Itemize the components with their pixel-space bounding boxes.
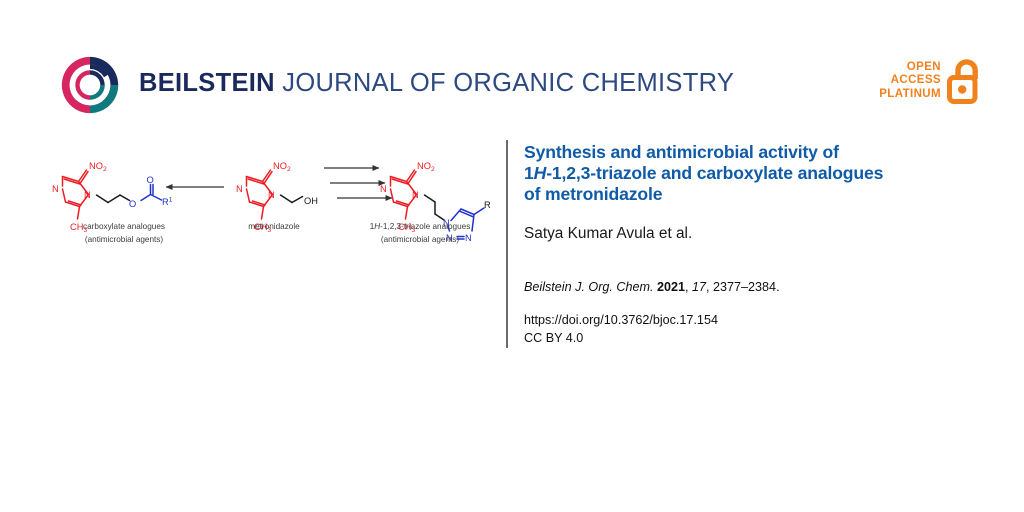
article-info-panel: Synthesis and antimicrobial activity of1… (524, 142, 994, 347)
article-citation: Beilstein J. Org. Chem. 2021, 17, 2377–2… (524, 279, 994, 296)
article-doi-link[interactable]: https://doi.org/10.3762/bjoc.17.154 (524, 311, 994, 329)
article-license[interactable]: CC BY 4.0 (524, 329, 994, 347)
caption-carboxylate-main: carboxylate analogues (83, 222, 165, 231)
label-no2: NO2 (417, 161, 435, 173)
open-access-badge[interactable]: OPEN ACCESS PLATINUM (879, 58, 982, 104)
label-ring-n1: N (268, 190, 275, 200)
open-access-label: OPEN ACCESS PLATINUM (879, 61, 941, 102)
journal-wordmark: BEILSTEIN JOURNAL OF ORGANIC CHEMISTRY (139, 71, 734, 99)
caption-triazole-post: -1,2,3-triazole analogues (380, 222, 470, 231)
beilstein-swirl-logo-icon (58, 53, 122, 117)
caption-triazole-sub: (antimicrobial agents) (344, 233, 496, 246)
abstract-captions: carboxylate analogues (antimicrobial age… (34, 220, 496, 260)
caption-carboxylate-sub: (antimicrobial agents) (54, 233, 194, 246)
citation-pages: , 2377–2384. (706, 280, 780, 294)
open-padlock-icon (946, 58, 982, 104)
oa-line-platinum: PLATINUM (879, 88, 941, 102)
caption-carboxylate: carboxylate analogues (antimicrobial age… (54, 220, 194, 246)
label-ring-n3: N (380, 184, 387, 194)
citation-comma: , (685, 280, 692, 294)
title-line-1: Synthesis and antimicrobial activity of (524, 142, 839, 162)
caption-triazole: 1H-1,2,3-triazole analogues (antimicrobi… (344, 220, 496, 246)
citation-journal: Beilstein J. Org. Chem. (524, 280, 657, 294)
caption-metronidazole-main: metronidazole (248, 222, 299, 231)
label-ring-n1: N (84, 190, 91, 200)
oa-line-access: ACCESS (879, 74, 941, 88)
journal-brand-lockup[interactable]: BEILSTEIN JOURNAL OF ORGANIC CHEMISTRY (58, 53, 734, 117)
oa-line-open: OPEN (879, 61, 941, 75)
content-divider (506, 140, 508, 348)
title-italic-h: H (534, 163, 547, 183)
wordmark-beilstein: BEILSTEIN (139, 69, 275, 97)
article-title[interactable]: Synthesis and antimicrobial activity of1… (524, 142, 994, 205)
label-oh: OH (304, 196, 318, 206)
label-ester-o: O (129, 199, 136, 209)
title-line-3: of metronidazole (524, 184, 662, 204)
label-r: R (484, 200, 491, 210)
citation-volume: 17 (692, 280, 706, 294)
label-ring-n3: N (52, 184, 59, 194)
title-line-2-post: -1,2,3-triazole and carboxylate analogue… (546, 163, 883, 183)
title-line-2-pre: 1 (524, 163, 534, 183)
label-ring-n1: N (412, 190, 419, 200)
label-ring-n3: N (236, 184, 243, 194)
label-no2: NO2 (89, 161, 107, 173)
article-authors: Satya Kumar Avula et al. (524, 224, 994, 243)
label-carbonyl-o: O (147, 175, 154, 185)
caption-triazole-main: 1H-1,2,3-triazole analogues (370, 222, 471, 231)
wordmark-journal-of-organic-chemistry: JOURNAL OF ORGANIC CHEMISTRY (275, 69, 734, 97)
masthead: BEILSTEIN JOURNAL OF ORGANIC CHEMISTRY O… (0, 0, 1024, 130)
label-no2: NO2 (273, 161, 291, 173)
citation-year: 2021 (657, 280, 685, 294)
caption-metronidazole: metronidazole (214, 220, 334, 233)
label-r1: R1 (162, 196, 173, 207)
